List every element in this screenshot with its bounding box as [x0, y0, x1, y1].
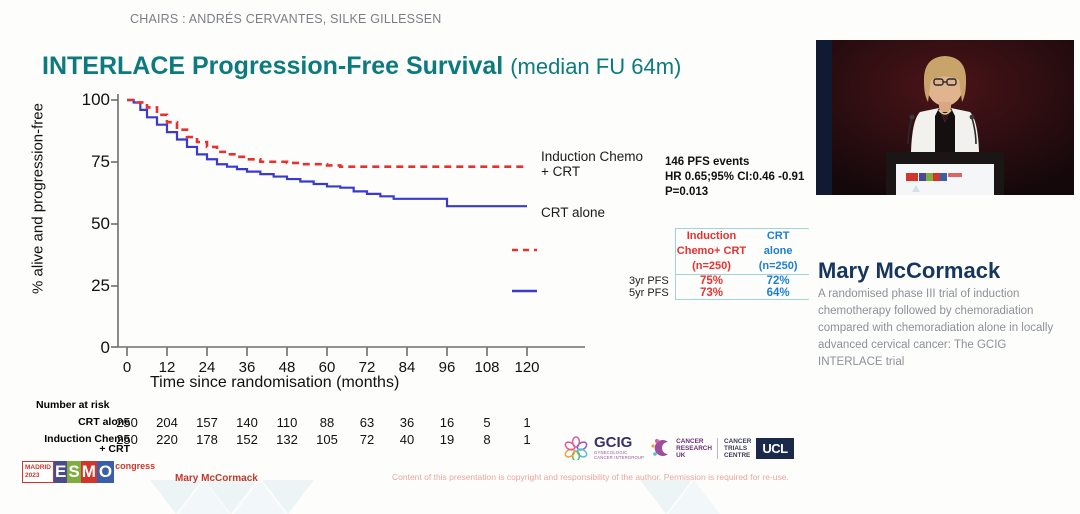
chairs-line: CHAIRS : ANDRÉS CERVANTES, SILKE GILLESS… — [130, 12, 442, 26]
value-3yr-induction: 75% — [675, 275, 747, 288]
risk-value-r2-t2: 178 — [192, 432, 222, 447]
esmo-letter-o: O — [97, 461, 114, 483]
x-tick-120: 120 — [510, 359, 544, 376]
header-induction-l1: Induction — [675, 229, 747, 245]
risk-row-label-crt-alone: CRT alone — [0, 416, 130, 428]
x-tick-108: 108 — [470, 359, 504, 376]
background-watermark — [0, 394, 1080, 514]
risk-value-r1-t3: 140 — [232, 415, 262, 430]
stat-events: 146 PFS events — [665, 155, 804, 170]
gcig-flower-icon — [563, 436, 589, 460]
slide-canvas: CHAIRS : ANDRÉS CERVANTES, SILKE GILLESS… — [0, 0, 1080, 514]
title-sub-text: (median FU 64m) — [510, 54, 681, 79]
risk-value-r1-t5: 88 — [312, 415, 342, 430]
esmo-congress-word: congress — [115, 461, 155, 471]
stat-pvalue: P=0.013 — [665, 185, 804, 200]
statistics-block: 146 PFS events HR 0.65;95% CI:0.46 -0.91… — [665, 155, 804, 200]
table-header-row-1: Induction CRT — [629, 229, 809, 245]
x-axis-label: Time since randomisation (months) — [150, 374, 399, 392]
curve-label-induction-l1: Induction Chemo — [541, 149, 643, 164]
esmo-letter-m: M — [81, 461, 97, 483]
esmo-letter-e: E — [54, 461, 67, 483]
risk-value-r2-t8: 19 — [432, 432, 462, 447]
table-header-row-2: Chemo+ CRT alone — [629, 244, 809, 259]
risk-value-r2-t0: 250 — [112, 432, 142, 447]
risk-value-r2-t6: 72 — [352, 432, 382, 447]
risk-value-r2-t10: 1 — [512, 432, 542, 447]
value-5yr-induction: 73% — [675, 287, 747, 300]
risk-value-r1-t2: 157 — [192, 415, 222, 430]
kaplan-meier-chart: % alive and progression-free 100 75 50 2… — [0, 80, 600, 380]
cruk-line-1: CANCER — [676, 438, 712, 445]
stat-hr: HR 0.65;95% CI:0.46 -0.91 — [665, 170, 804, 185]
table-row: 5yr PFS 73% 64% — [629, 287, 809, 300]
risk-value-r1-t8: 16 — [432, 415, 462, 430]
curve-label-induction-l2: + CRT — [541, 164, 580, 179]
pfs-results-table: Induction CRT Chemo+ CRT alone (n=250) (… — [629, 228, 809, 300]
curve-induction-chemo-crt — [127, 100, 527, 167]
speaker-description: A randomised phase III trial of inductio… — [818, 286, 1070, 371]
risk-value-r2-t4: 132 — [272, 432, 302, 447]
gcig-subtitle-2: CANCER INTERGROUP — [594, 455, 644, 460]
esmo-madrid-year: 2023 — [25, 472, 51, 480]
gcig-name: GCIG — [594, 436, 644, 450]
risk-value-r1-t0: 250 — [112, 415, 142, 430]
risk-value-r2-t9: 8 — [472, 432, 502, 447]
header-crt-n: (n=250) — [747, 259, 809, 275]
risk-row-label-induction-l2: + CRT — [0, 443, 130, 455]
value-3yr-crt: 72% — [747, 275, 809, 288]
value-5yr-crt: 64% — [747, 287, 809, 300]
copyright-notice: Content of this presentation is copyrigh… — [392, 472, 789, 482]
cruk-line-3: UK — [676, 452, 712, 459]
curve-label-crt-alone: CRT alone — [541, 205, 605, 220]
speaker-name: Mary McCormack — [818, 258, 1000, 284]
header-induction-l2: Chemo+ CRT — [675, 244, 747, 259]
table-header-row-3: (n=250) (n=250) — [629, 259, 809, 275]
curve-label-induction: Induction Chemo + CRT — [541, 149, 643, 179]
risk-value-r2-t5: 105 — [312, 432, 342, 447]
speaker-photo — [816, 40, 1074, 195]
ctc-line-2: TRIALS — [717, 445, 751, 452]
cancer-research-uk-wordmark: CANCER RESEARCH UK — [676, 438, 712, 459]
x-tick-96: 96 — [430, 359, 464, 376]
gcig-wordmark: GCIG GYNECOLOGIC CANCER INTERGROUP — [594, 436, 644, 460]
risk-value-r2-t7: 40 — [392, 432, 422, 447]
risk-value-r2-t1: 220 — [152, 432, 182, 447]
cancer-trials-centre-wordmark: CANCER TRIALS CENTRE — [717, 438, 751, 459]
cruk-line-2: RESEARCH — [676, 445, 712, 452]
risk-value-r1-t1: 204 — [152, 415, 182, 430]
risk-value-r1-t4: 110 — [272, 415, 302, 430]
esmo-madrid-badge: MADRID 2023 — [22, 461, 54, 483]
risk-value-r1-t6: 63 — [352, 415, 382, 430]
esmo-congress-logo: MADRID 2023 E S M O congress — [22, 461, 155, 483]
ctc-line-1: CANCER — [717, 438, 751, 445]
header-crt-l1: CRT — [747, 229, 809, 245]
number-at-risk-heading: Number at risk — [36, 399, 110, 411]
ctc-line-3: CENTRE — [717, 452, 751, 459]
esmo-madrid-city: MADRID — [25, 464, 51, 472]
ucl-logo: UCL — [756, 438, 793, 459]
speaker-photo-image — [816, 40, 1074, 195]
header-crt-l2: alone — [747, 244, 809, 259]
chart-svg — [0, 80, 600, 380]
table-row: 3yr PFS 75% 72% — [629, 275, 809, 288]
esmo-letter-s: S — [67, 461, 80, 483]
risk-value-r1-t9: 5 — [472, 415, 502, 430]
title-main-text: INTERLACE Progression-Free Survival — [42, 52, 503, 80]
page-title: INTERLACE Progression-Free Survival (med… — [42, 52, 681, 81]
risk-value-r1-t10: 1 — [512, 415, 542, 430]
cruk-c-icon — [649, 437, 671, 459]
risk-value-r2-t3: 152 — [232, 432, 262, 447]
footer-presenter-name: Mary McCormack — [175, 473, 258, 484]
header-induction-n: (n=250) — [675, 259, 747, 275]
row-label-5yr: 5yr PFS — [629, 287, 675, 300]
curve-crt-alone — [127, 100, 527, 206]
results-table: Induction CRT Chemo+ CRT alone (n=250) (… — [629, 228, 809, 300]
x-tick-0: 0 — [110, 359, 144, 376]
risk-value-r1-t7: 36 — [392, 415, 422, 430]
partner-logos: GCIG GYNECOLOGIC CANCER INTERGROUP CANCE… — [563, 434, 794, 462]
row-label-3yr: 3yr PFS — [629, 275, 675, 288]
